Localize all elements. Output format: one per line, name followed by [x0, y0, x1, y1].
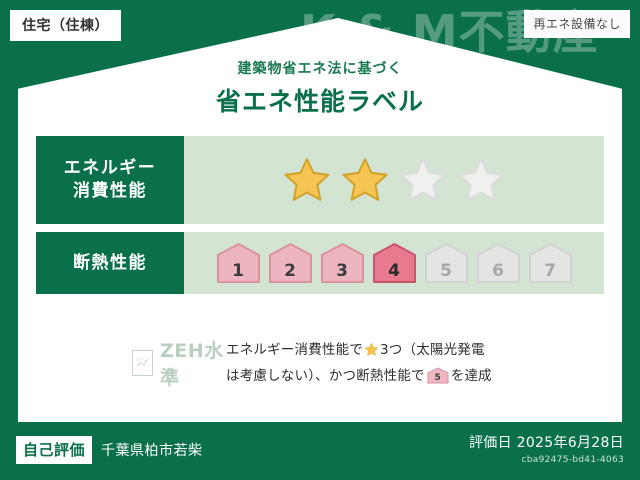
label-footer: 自己評価 千葉県柏市若柴 評価日 2025年6月28日 cba92475-bd4…	[0, 422, 640, 480]
renewable-equipment-tag: 再エネ設備なし	[524, 10, 630, 38]
insulation-grade-value: 6	[476, 263, 521, 280]
insulation-grade-badge: 4	[372, 242, 417, 284]
insulation-grade-value: 7	[528, 263, 573, 280]
zeh-desc-part1: エネルギー消費性能で	[226, 342, 363, 358]
star-empty-icon	[455, 155, 507, 205]
label-title: 建築物省エネ法に基づく 省エネ性能ラベル	[0, 58, 640, 118]
inline-grade-badge: 5	[427, 367, 449, 384]
zeh-desc-stars: 3つ（太陽光発電	[380, 342, 485, 358]
insulation-label-line1: 断熱性能	[73, 252, 147, 275]
insulation-grade-badge: 6	[476, 242, 521, 284]
energy-performance-value	[184, 136, 604, 224]
star-rating	[281, 155, 507, 205]
rating-rows: エネルギー 消費性能 断熱性能 1234567	[36, 136, 604, 302]
energy-label-line2: 消費性能	[73, 180, 147, 203]
star-empty-icon	[397, 155, 449, 205]
insulation-performance-label: 断熱性能	[36, 232, 184, 294]
insulation-grade-badge: 2	[268, 242, 313, 284]
zeh-label: ZEH水準	[160, 336, 226, 390]
insulation-grade-badge: 1	[216, 242, 261, 284]
insulation-grade-value: 2	[268, 263, 313, 280]
zeh-desc-part3: を達成	[451, 368, 492, 384]
footer-left-group: 自己評価 千葉県柏市若柴	[16, 436, 203, 464]
insulation-performance-value: 1234567	[184, 232, 604, 294]
inline-grade-value: 5	[427, 374, 449, 383]
zeh-desc-part2: は考慮しない）、かつ断熱性能で	[226, 368, 425, 384]
evaluation-date: 評価日 2025年6月28日	[469, 432, 624, 452]
inline-star-icon	[364, 342, 379, 365]
insulation-grade-badge: 7	[528, 242, 573, 284]
insulation-grade-badge: 5	[424, 242, 469, 284]
title-subtitle: 建築物省エネ法に基づく	[0, 58, 640, 78]
zeh-section: ZEH水準 エネルギー消費性能で 3つ（太陽光発電 は考慮しない）、かつ断熱性能…	[36, 336, 604, 390]
zeh-mark: ZEH水準	[36, 336, 226, 390]
zeh-solar-icon	[132, 350, 153, 376]
energy-performance-row: エネルギー 消費性能	[36, 136, 604, 224]
title-main: 省エネ性能ラベル	[0, 82, 640, 118]
building-type-tag: 住宅（住棟）	[10, 10, 121, 41]
star-filled-icon	[281, 155, 333, 205]
evaluation-id: cba92475-bd41-4063	[469, 455, 624, 465]
star-filled-icon	[339, 155, 391, 205]
zeh-description: エネルギー消費性能で 3つ（太陽光発電 は考慮しない）、かつ断熱性能で 5を達成	[226, 339, 604, 388]
insulation-grade-value: 3	[320, 263, 365, 280]
property-address: 千葉県柏市若柴	[101, 440, 203, 460]
energy-performance-label: K & M不動産 住宅（住棟） 再エネ設備なし 建築物省エネ法に基づく 省エネ性…	[0, 0, 640, 480]
insulation-grade-value: 1	[216, 263, 261, 280]
insulation-grade-value: 4	[372, 263, 417, 280]
insulation-grade-scale: 1234567	[216, 242, 573, 284]
energy-performance-label: エネルギー 消費性能	[36, 136, 184, 224]
insulation-performance-row: 断熱性能 1234567	[36, 232, 604, 294]
self-evaluation-badge: 自己評価	[16, 436, 92, 464]
insulation-grade-badge: 3	[320, 242, 365, 284]
energy-label-line1: エネルギー	[64, 157, 157, 180]
footer-right-group: 評価日 2025年6月28日 cba92475-bd41-4063	[469, 432, 624, 465]
insulation-grade-value: 5	[424, 263, 469, 280]
